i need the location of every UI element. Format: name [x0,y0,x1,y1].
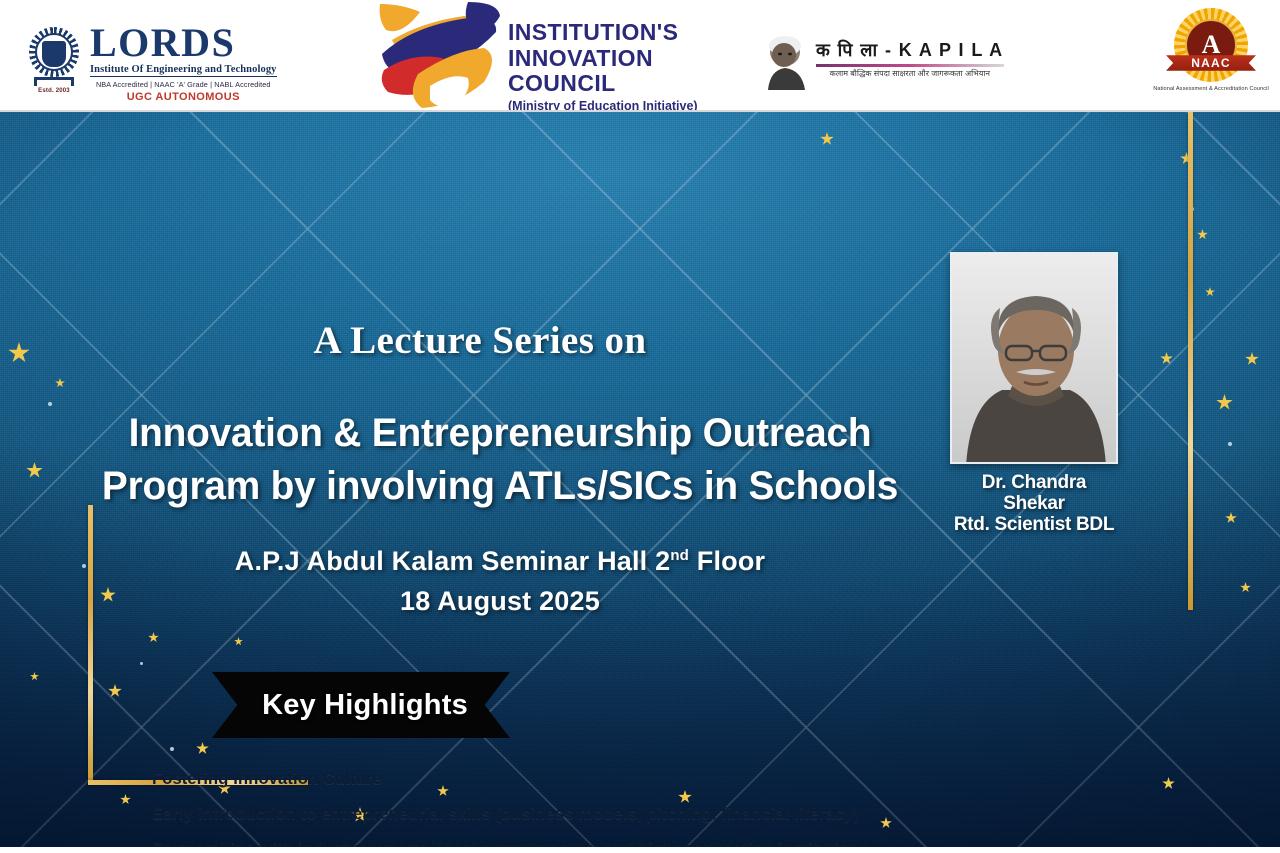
event-date: 18 August 2025 [40,581,960,621]
naac-logo: A NAAC National Assessment & Accreditati… [1152,8,1270,92]
lords-logo: Estd. 2003 LORDS Institute Of Engineerin… [26,20,277,103]
naac-seal-icon: A NAAC [1174,8,1248,82]
lords-autonomous: UGC AUTONOMOUS [90,91,277,103]
decor-dot [48,402,52,406]
speaker-photo [950,252,1118,464]
decor-dot [140,662,143,665]
lords-emblem-icon: Estd. 2003 [26,25,82,99]
naac-caption: National Assessment & Accreditation Coun… [1152,86,1270,92]
kapila-title: क पि ला - K A P I L A [816,38,1004,62]
key-highlights-banner: Key Highlights [212,672,510,738]
highlights-list: Fostering Innovation Culture Early intro… [152,762,1152,847]
iic-mark-icon [372,0,502,112]
venue-line: A.P.J Abdul Kalam Seminar Hall 2nd Floor [40,536,960,581]
title-line-2: Program by involving ATLs/SICs in School… [54,460,946,513]
venue-prefix: A.P.J Abdul Kalam Seminar Hall 2 [235,546,671,576]
list-item: Fostering Innovation Culture [152,762,1152,797]
iic-logo: INSTITUTION'S INNOVATION COUNCIL (Minist… [372,0,698,112]
gold-line-right [1188,112,1193,610]
speaker-caption: Dr. Chandra Shekar Rtd. Scientist BDL [950,472,1118,535]
lords-accreditations: NBA Accredited | NAAC 'A' Grade | NABL A… [90,80,277,89]
title-line-1: Innovation & Entrepreneurship Outreach [54,407,946,460]
lords-subtitle: Institute Of Engineering and Technology [90,64,277,77]
iic-line-3: COUNCIL [508,71,698,97]
decor-dot [170,747,174,751]
kapila-hindi-caption: कलाम बौद्धिक संपदा साक्षरता और जागरूकता … [816,69,1004,79]
venue-ordinal: nd [670,547,689,564]
kapila-rule [816,64,1004,67]
speaker-name: Dr. Chandra Shekar [950,472,1118,514]
iic-ministry: (Ministry of Education Initiative) [508,99,698,113]
venue-block: A.P.J Abdul Kalam Seminar Hall 2nd Floor… [40,536,960,621]
speaker-block: Dr. Chandra Shekar Rtd. Scientist BDL [950,252,1118,535]
iic-line-2: INNOVATION [508,46,698,72]
poster-canvas: A Lecture Series on Innovation & Entrepr… [0,112,1280,847]
lecture-series-eyebrow: A Lecture Series on [0,318,960,363]
decor-dot [1228,442,1232,446]
lords-established: Estd. 2003 [26,88,82,94]
list-item: Early introduction to entrepreneurial sk… [152,797,1152,832]
logo-bar: Estd. 2003 LORDS Institute Of Engineerin… [0,0,1280,112]
kapila-logo: क पि ला - K A P I L A कलाम बौद्धिक संपदा… [760,34,1004,90]
speaker-designation: Rtd. Scientist BDL [950,514,1118,535]
list-item: Partnerships with industry experts, loca… [152,832,1152,847]
iic-line-1: INSTITUTION'S [508,20,698,46]
key-highlights-label: Key Highlights [254,689,468,722]
lords-name: LORDS [90,22,277,64]
page-title: Innovation & Entrepreneurship Outreach P… [54,407,946,513]
bottom-strip [0,847,1280,853]
venue-suffix: Floor [689,546,765,576]
poster-root: Estd. 2003 LORDS Institute Of Engineerin… [0,0,1280,853]
kalam-portrait-icon [760,34,812,90]
